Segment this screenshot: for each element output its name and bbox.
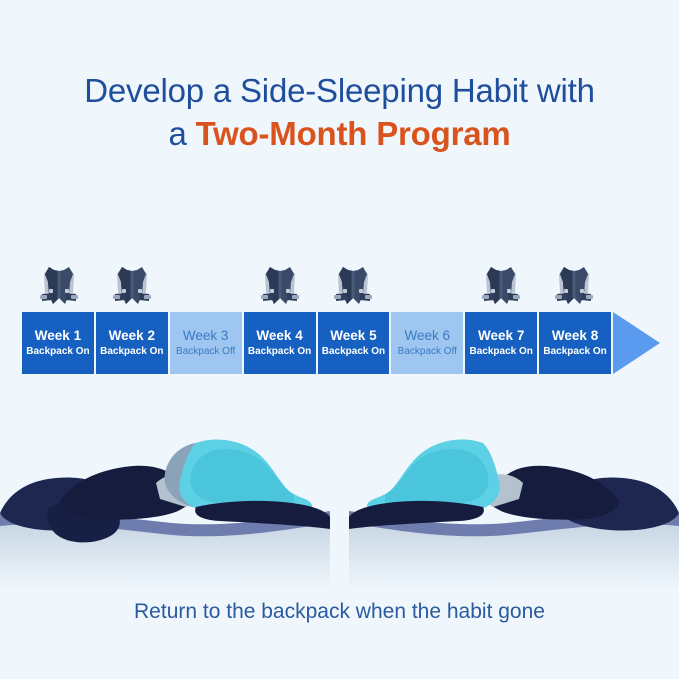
week-status: Backpack On bbox=[470, 347, 533, 357]
brace-icon-cell-empty bbox=[390, 250, 464, 312]
brace-icon-cell bbox=[96, 250, 170, 312]
week-box-2[interactable]: Week 2 Backpack On bbox=[96, 312, 168, 374]
week-label: Week 7 bbox=[478, 329, 524, 343]
brace-icon-cell-empty bbox=[169, 250, 243, 312]
footer-caption: Return to the backpack when the habit go… bbox=[0, 600, 679, 624]
week-box-5[interactable]: Week 5 Backpack On bbox=[318, 312, 390, 374]
side-sleeper-facing-left bbox=[349, 439, 679, 590]
week-box-1[interactable]: Week 1 Backpack On bbox=[22, 312, 94, 374]
posture-backpack-brace-icon bbox=[551, 262, 597, 312]
week-label: Week 2 bbox=[109, 329, 155, 343]
program-timeline: Week 1 Backpack On Week 2 Backpack On We… bbox=[22, 250, 658, 410]
title-line-2-prefix: a bbox=[168, 115, 195, 152]
week-label: Week 1 bbox=[35, 329, 81, 343]
side-sleeper-facing-right bbox=[0, 439, 330, 590]
brace-icon-cell bbox=[243, 250, 317, 312]
week-box-6[interactable]: Week 6 Backpack Off bbox=[391, 312, 463, 374]
week-status: Backpack On bbox=[322, 347, 385, 357]
week-status: Backpack On bbox=[100, 347, 163, 357]
posture-backpack-brace-icon bbox=[330, 262, 376, 312]
week-status: Backpack Off bbox=[398, 347, 457, 357]
week-row: Week 1 Backpack On Week 2 Backpack On We… bbox=[22, 312, 611, 374]
week-status: Backpack Off bbox=[176, 347, 235, 357]
posture-backpack-brace-icon bbox=[257, 262, 303, 312]
posture-backpack-brace-icon bbox=[109, 262, 155, 312]
week-box-7[interactable]: Week 7 Backpack On bbox=[465, 312, 537, 374]
side-sleeping-illustration bbox=[0, 425, 679, 590]
title-line-1: Develop a Side-Sleeping Habit with bbox=[0, 70, 679, 113]
week-label: Week 3 bbox=[183, 329, 229, 343]
brace-icon-cell bbox=[317, 250, 391, 312]
week-label: Week 6 bbox=[405, 329, 451, 343]
brace-icon-cell bbox=[537, 250, 611, 312]
week-status: Backpack On bbox=[26, 347, 89, 357]
title-accent-text: Two-Month Program bbox=[196, 115, 511, 152]
week-label: Week 5 bbox=[330, 329, 376, 343]
week-status: Backpack On bbox=[543, 347, 606, 357]
posture-backpack-brace-icon bbox=[478, 262, 524, 312]
week-label: Week 4 bbox=[256, 329, 302, 343]
week-status: Backpack On bbox=[248, 347, 311, 357]
title-line-2: a Two-Month Program bbox=[0, 113, 679, 156]
week-label: Week 8 bbox=[552, 329, 598, 343]
sleepers-svg bbox=[0, 425, 679, 590]
week-box-3[interactable]: Week 3 Backpack Off bbox=[170, 312, 242, 374]
right-arrow-icon bbox=[613, 312, 660, 374]
week-box-8[interactable]: Week 8 Backpack On bbox=[539, 312, 611, 374]
page-title: Develop a Side-Sleeping Habit with a Two… bbox=[0, 70, 679, 156]
week-box-4[interactable]: Week 4 Backpack On bbox=[244, 312, 316, 374]
brace-icon-row bbox=[22, 250, 611, 312]
posture-backpack-brace-icon bbox=[36, 262, 82, 312]
brace-icon-cell bbox=[464, 250, 538, 312]
brace-icon-cell bbox=[22, 250, 96, 312]
